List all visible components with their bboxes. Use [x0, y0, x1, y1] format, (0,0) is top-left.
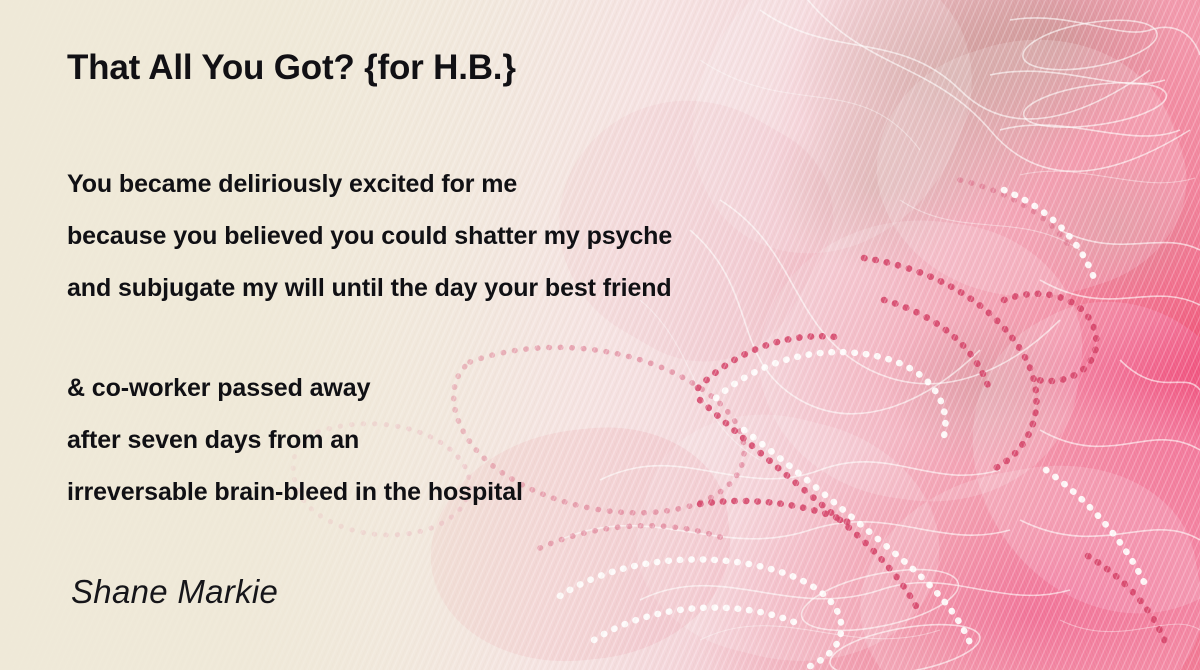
page-title: That All You Got? {for H.B.} [67, 48, 516, 88]
poem-line: & co-worker passed away [67, 362, 523, 414]
poem-line: irreversable brain-bleed in the hospital [67, 466, 523, 518]
poem-line: because you believed you could shatter m… [67, 210, 672, 262]
poem-stanza-1: You became deliriously excited for me be… [67, 158, 672, 314]
poem-author: Shane Markie [71, 573, 278, 611]
poem-image-card: .wcurve { fill:none; stroke:#ffffff; str… [0, 0, 1200, 670]
poem-line: and subjugate my will until the day your… [67, 262, 672, 314]
poem-stanza-2: & co-worker passed away after seven days… [67, 362, 523, 518]
poem-line: You became deliriously excited for me [67, 158, 672, 210]
poem-text-block: That All You Got? {for H.B.} You became … [67, 0, 1067, 670]
poem-line: after seven days from an [67, 414, 523, 466]
